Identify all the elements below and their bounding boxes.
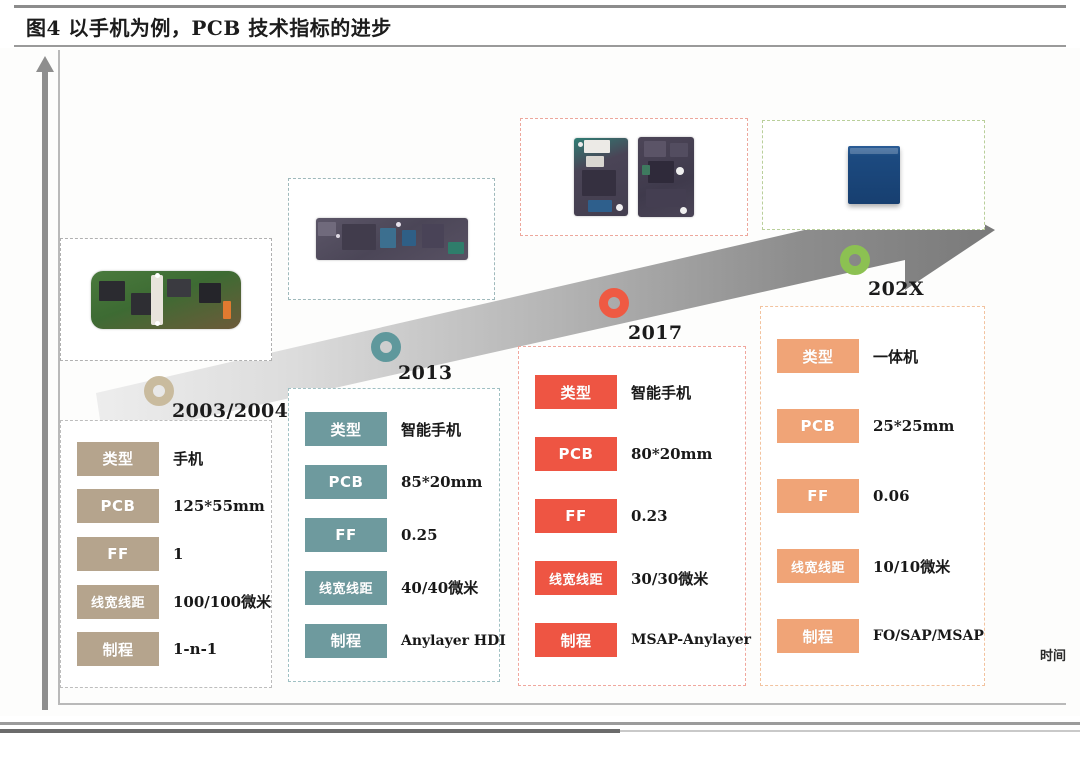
photo-inner-202x — [763, 121, 984, 229]
photo-inner-2013 — [289, 179, 494, 299]
title-bottom-rule — [14, 45, 1066, 47]
spec-chip-label: 制程 — [77, 632, 159, 666]
spec-row: 制程 1-n-1 — [61, 629, 271, 669]
spec-row: PCB 25*25mm — [761, 406, 984, 446]
spec-value: MSAP-Anylayer — [631, 632, 751, 648]
page-rule-tertiary — [620, 730, 1080, 732]
spec-rows-2013: 类型 智能手机 PCB 85*20mm FF 0.25 线宽线距 40/40微米… — [289, 389, 499, 681]
spec-row: 类型 手机 — [61, 439, 271, 479]
spec-chip-label: FF — [305, 518, 387, 552]
spec-row: 类型 智能手机 — [289, 409, 499, 449]
spec-rows-2003: 类型 手机 PCB 125*55mm FF 1 线宽线距 100/100微米 制… — [61, 421, 271, 687]
spec-value: 智能手机 — [401, 419, 461, 440]
timeline-marker-2017[interactable] — [599, 288, 629, 318]
spec-value: 25*25mm — [873, 417, 954, 435]
spec-row: PCB 125*55mm — [61, 486, 271, 526]
spec-row: 类型 一体机 — [761, 336, 984, 376]
spec-row: FF 0.06 — [761, 476, 984, 516]
spec-value: 一体机 — [873, 346, 918, 367]
spec-chip-label: 制程 — [305, 624, 387, 658]
spec-chip-label: 线宽线距 — [305, 571, 387, 605]
spec-value: 30/30微米 — [631, 568, 708, 589]
spec-chip-label: 制程 — [777, 619, 859, 653]
spec-value: FO/SAP/MSAP — [873, 628, 984, 644]
figure-title: 图4 以手机为例，PCB 技术指标的进步 — [26, 12, 392, 41]
spec-value: 100/100微米 — [173, 591, 271, 612]
spec-row: FF 0.25 — [289, 515, 499, 555]
spec-chip-label: PCB — [535, 437, 617, 471]
spec-row: 制程 Anylayer HDI — [289, 621, 499, 661]
spec-chip-label: FF — [77, 537, 159, 571]
spec-panel-2003: 类型 手机 PCB 125*55mm FF 1 线宽线距 100/100微米 制… — [60, 420, 272, 688]
spec-row: 类型 智能手机 — [519, 372, 745, 412]
spec-chip-label: 类型 — [535, 375, 617, 409]
y-axis-line — [42, 68, 48, 710]
spec-chip-label: PCB — [777, 409, 859, 443]
spec-value: 0.25 — [401, 526, 438, 544]
spec-value: 0.06 — [873, 487, 910, 505]
spec-chip-label: FF — [777, 479, 859, 513]
spec-panel-2013: 类型 智能手机 PCB 85*20mm FF 0.25 线宽线距 40/40微米… — [288, 388, 500, 682]
spec-chip-label: 线宽线距 — [535, 561, 617, 595]
spec-row: 线宽线距 40/40微米 — [289, 568, 499, 608]
photo-box-2017 — [520, 118, 748, 236]
spec-row: 制程 FO/SAP/MSAP — [761, 616, 984, 656]
spec-row: 线宽线距 100/100微米 — [61, 582, 271, 622]
pcb-image-hdi-board-right — [638, 137, 694, 217]
year-label-2017: 2017 — [628, 322, 682, 344]
spec-chip-label: 类型 — [305, 412, 387, 446]
sip-module-image — [848, 146, 900, 204]
year-label-202x: 202X — [868, 278, 924, 300]
page-rule-primary — [0, 722, 1080, 725]
spec-row: FF 1 — [61, 534, 271, 574]
title-top-rule — [14, 5, 1066, 8]
diagram-canvas: 2003/2004 2013 2017 202X 类型 手机 PCB 125*5… — [0, 48, 1080, 716]
spec-row: 线宽线距 10/10微米 — [761, 546, 984, 586]
spec-chip-label: 制程 — [535, 623, 617, 657]
spec-row: 线宽线距 30/30微米 — [519, 558, 745, 598]
spec-value: 智能手机 — [631, 382, 691, 403]
spec-row: PCB 85*20mm — [289, 462, 499, 502]
spec-chip-label: 线宽线距 — [777, 549, 859, 583]
spec-chip-label: 类型 — [777, 339, 859, 373]
spec-chip-label: 类型 — [77, 442, 159, 476]
photo-inner-2017 — [521, 119, 747, 235]
pcb-image-smartphone-mainboard — [316, 218, 468, 260]
timeline-marker-2003[interactable] — [144, 376, 174, 406]
photo-inner-2003 — [61, 239, 271, 360]
spec-value: 10/10微米 — [873, 556, 950, 577]
spec-value: 1 — [173, 545, 183, 563]
time-axis-label: 时间 — [1040, 645, 1066, 664]
spec-chip-label: 线宽线距 — [77, 585, 159, 619]
spec-value: 0.23 — [631, 507, 668, 525]
pcb-image-feature-phone — [91, 271, 241, 329]
spec-value: 40/40微米 — [401, 577, 478, 598]
spec-value: 125*55mm — [173, 497, 265, 515]
spec-value: 1-n-1 — [173, 640, 217, 658]
spec-value: Anylayer HDI — [401, 633, 506, 649]
spec-chip-label: PCB — [305, 465, 387, 499]
spec-value: 80*20mm — [631, 445, 712, 463]
spec-panel-202x: 类型 一体机 PCB 25*25mm FF 0.06 线宽线距 10/10微米 … — [760, 306, 985, 686]
spec-rows-202x: 类型 一体机 PCB 25*25mm FF 0.06 线宽线距 10/10微米 … — [761, 307, 984, 685]
year-label-2003: 2003/2004 — [172, 400, 288, 422]
spec-rows-2017: 类型 智能手机 PCB 80*20mm FF 0.23 线宽线距 30/30微米… — [519, 347, 745, 685]
spec-row: 制程 MSAP-Anylayer — [519, 620, 745, 660]
spec-value: 85*20mm — [401, 473, 482, 491]
page-rule-secondary — [0, 729, 620, 733]
spec-chip-label: FF — [535, 499, 617, 533]
photo-box-2013 — [288, 178, 495, 300]
spec-row: FF 0.23 — [519, 496, 745, 536]
photo-box-2003 — [60, 238, 272, 361]
timeline-marker-2013[interactable] — [371, 332, 401, 362]
spec-row: PCB 80*20mm — [519, 434, 745, 474]
spec-panel-2017: 类型 智能手机 PCB 80*20mm FF 0.23 线宽线距 30/30微米… — [518, 346, 746, 686]
spec-value: 手机 — [173, 448, 203, 469]
photo-box-202x — [762, 120, 985, 230]
timeline-marker-202x[interactable] — [840, 245, 870, 275]
spec-chip-label: PCB — [77, 489, 159, 523]
year-label-2013: 2013 — [398, 362, 452, 384]
pcb-image-hdi-board-left — [574, 138, 628, 216]
figure-header: 图4 以手机为例，PCB 技术指标的进步 — [0, 0, 1080, 48]
